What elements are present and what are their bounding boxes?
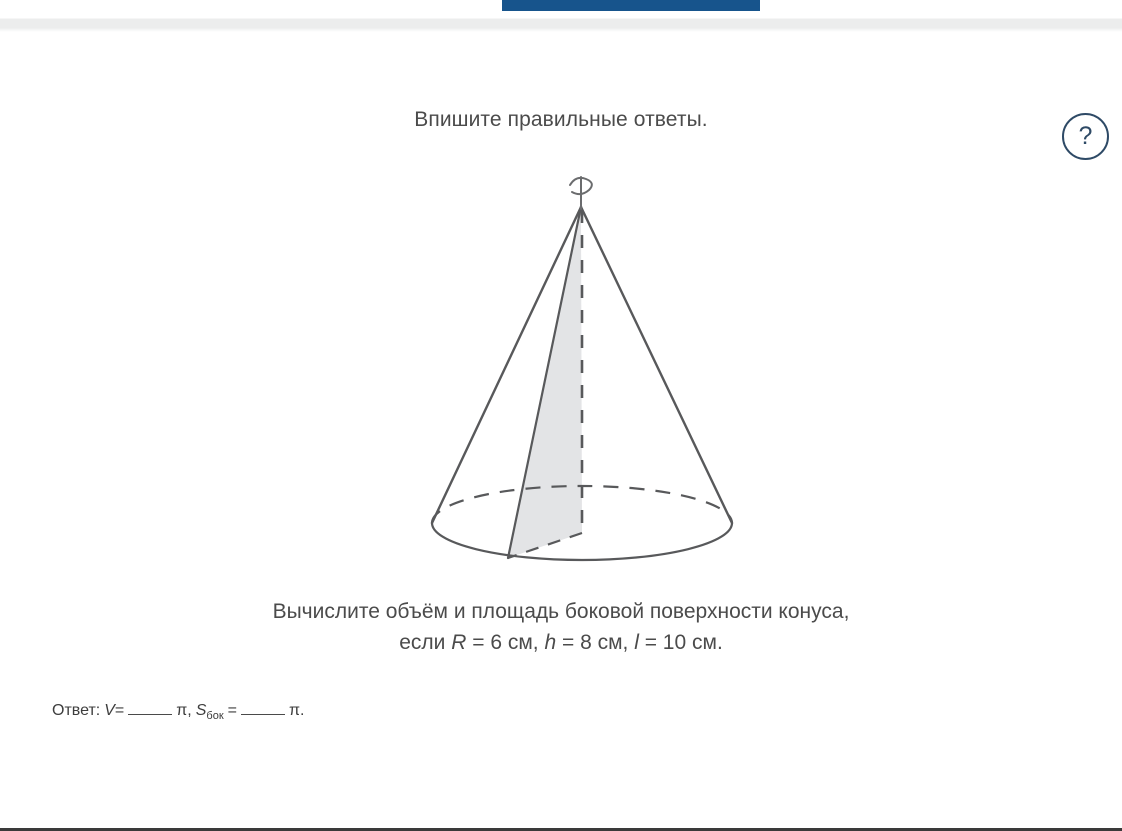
cone-diagram: [395, 165, 775, 575]
volume-input-blank[interactable]: [128, 699, 172, 715]
symbol-S: S: [196, 702, 207, 719]
value-R: = 6 см,: [466, 631, 544, 654]
help-icon[interactable]: ?: [1062, 113, 1109, 160]
slant-right: [581, 207, 732, 523]
question-line-2: если R = 6 см, h = 8 см, l = 10 см.: [0, 627, 1122, 658]
symbol-V: V: [104, 702, 115, 719]
value-l: = 10 см.: [639, 631, 723, 654]
progress-bar: [502, 0, 760, 11]
base-ellipse-front: [432, 523, 732, 560]
page-title: Впишите правильные ответы.: [0, 108, 1122, 132]
question-line-1: Вычислите объём и площадь боковой поверх…: [0, 596, 1122, 627]
question-text: Вычислите объём и площадь боковой поверх…: [0, 596, 1122, 658]
equals-sign-1: =: [115, 702, 124, 719]
pi-1: π,: [176, 702, 191, 719]
symbol-h: h: [544, 631, 556, 654]
answer-row: Ответ:V=π,Sбок=π.: [52, 699, 304, 722]
exercise-screen: Впишите правильные ответы. ? Вы: [0, 0, 1122, 831]
value-h: = 8 см,: [556, 631, 634, 654]
symbol-R: R: [451, 631, 466, 654]
symbol-S-subscript: бок: [206, 710, 223, 722]
question-prefix: если: [399, 631, 451, 654]
lateral-area-input-blank[interactable]: [241, 699, 285, 715]
equals-sign-2: =: [228, 702, 237, 719]
pi-2: π.: [289, 702, 304, 719]
answer-label: Ответ:: [52, 702, 100, 719]
